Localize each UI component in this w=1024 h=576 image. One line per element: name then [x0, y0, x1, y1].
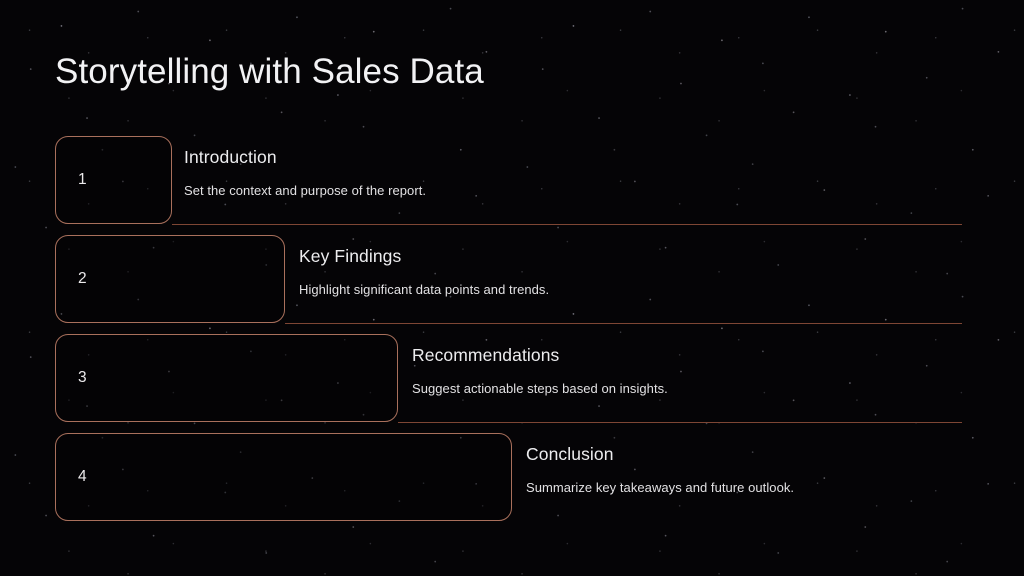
- agenda-description-1: Set the context and purpose of the repor…: [184, 183, 426, 199]
- agenda-divider-2: [285, 323, 962, 324]
- agenda-description-3: Suggest actionable steps based on insigh…: [412, 381, 668, 397]
- agenda-number-box-2[interactable]: 2: [55, 235, 285, 323]
- agenda-text-4: Conclusion Summarize key takeaways and f…: [526, 444, 794, 496]
- agenda-text-2: Key Findings Highlight significant data …: [299, 246, 549, 298]
- agenda-description-4: Summarize key takeaways and future outlo…: [526, 480, 794, 496]
- agenda-divider-3: [398, 422, 962, 423]
- presentation-slide: Storytelling with Sales Data 1 Introduct…: [0, 0, 1024, 576]
- agenda-number-2: 2: [78, 271, 87, 287]
- agenda-text-3: Recommendations Suggest actionable steps…: [412, 345, 668, 397]
- agenda-heading-3: Recommendations: [412, 345, 668, 366]
- agenda-description-2: Highlight significant data points and tr…: [299, 282, 549, 298]
- agenda-number-1: 1: [78, 172, 87, 188]
- agenda-number-4: 4: [78, 469, 87, 485]
- agenda-heading-2: Key Findings: [299, 246, 549, 267]
- agenda-row: 2 Key Findings Highlight significant dat…: [0, 235, 1024, 335]
- agenda-number-box-3[interactable]: 3: [55, 334, 398, 422]
- agenda-text-1: Introduction Set the context and purpose…: [184, 147, 426, 199]
- agenda-row: 1 Introduction Set the context and purpo…: [0, 136, 1024, 236]
- agenda-heading-4: Conclusion: [526, 444, 794, 465]
- agenda-row: 3 Recommendations Suggest actionable ste…: [0, 334, 1024, 434]
- agenda-number-3: 3: [78, 370, 87, 386]
- agenda-heading-1: Introduction: [184, 147, 426, 168]
- agenda-divider-1: [172, 224, 962, 225]
- agenda-row: 4 Conclusion Summarize key takeaways and…: [0, 433, 1024, 533]
- page-title: Storytelling with Sales Data: [55, 52, 484, 92]
- agenda-number-box-4[interactable]: 4: [55, 433, 512, 521]
- agenda-number-box-1[interactable]: 1: [55, 136, 172, 224]
